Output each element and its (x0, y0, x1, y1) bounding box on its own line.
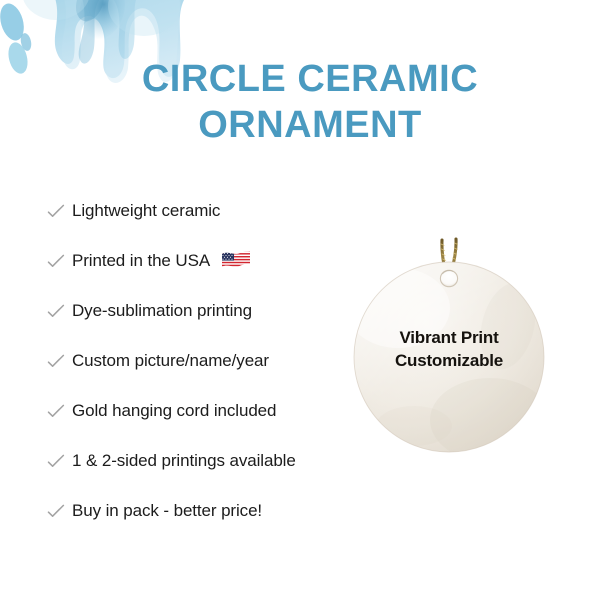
list-item-label: Dye-sublimation printing (72, 301, 252, 321)
check-icon (46, 302, 68, 320)
ornament-hole (440, 270, 457, 286)
list-item: Dye-sublimation printing (46, 286, 346, 336)
list-item: Gold hanging cord included (46, 386, 346, 436)
list-item: Printed in the USA (46, 236, 346, 286)
feature-list: Lightweight ceramic Printed in the USA (46, 186, 346, 536)
check-icon (46, 252, 68, 270)
usa-flag-icon (221, 250, 251, 275)
list-item-label: 1 & 2-sided printings available (72, 451, 296, 471)
list-item-label: Lightweight ceramic (72, 201, 220, 221)
list-item-label: Gold hanging cord included (72, 401, 276, 421)
list-item: 1 & 2-sided printings available (46, 436, 346, 486)
list-item-label: Buy in pack - better price! (72, 501, 262, 521)
check-icon (46, 402, 68, 420)
list-item: Custom picture/name/year (46, 336, 346, 386)
product-feature-graphic: CIRCLE CERAMIC ORNAMENT Lightweight cera… (0, 0, 600, 600)
check-icon (46, 502, 68, 520)
list-item: Buy in pack - better price! (46, 486, 346, 536)
page-title-line-2: ORNAMENT (100, 102, 520, 148)
list-item-label: Printed in the USA (72, 251, 210, 271)
check-icon (46, 452, 68, 470)
ornament-illustration (340, 230, 570, 465)
page-title-line-1: CIRCLE CERAMIC (100, 56, 520, 102)
page-title: CIRCLE CERAMIC ORNAMENT (100, 56, 520, 148)
check-icon (46, 202, 68, 220)
ornament-product-photo: Vibrant Print Customizable (340, 230, 570, 465)
list-item-label: Custom picture/name/year (72, 351, 269, 371)
check-icon (46, 352, 68, 370)
list-item: Lightweight ceramic (46, 186, 346, 236)
